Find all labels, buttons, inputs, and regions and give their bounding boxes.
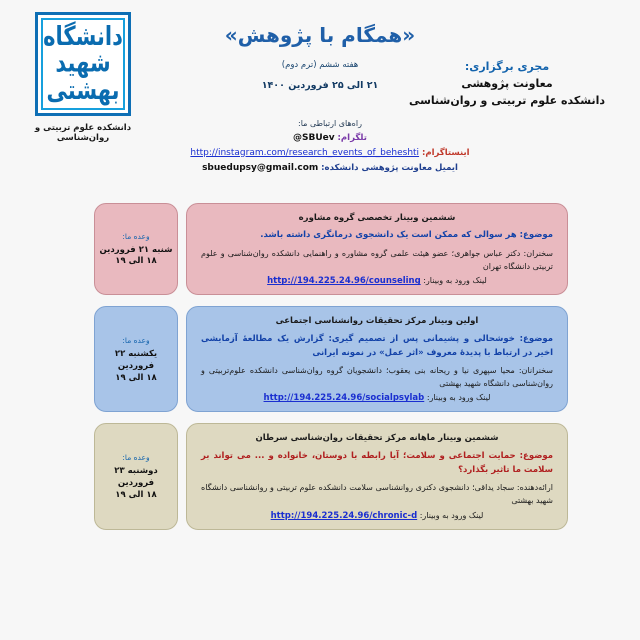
card-3-date-heading: وعده ما: <box>122 453 149 462</box>
card-1-speaker: سخنران: دکتر عباس جواهری؛ عضو هیئت علمی … <box>201 247 553 273</box>
card-2-webinar-link[interactable]: http://194.225.24.96/socialpsylab <box>264 393 425 403</box>
telegram-label: تلگرام: <box>338 133 367 143</box>
card-2-title: اولین وبینار مرکز تحقیقات روانشناسی اجتم… <box>201 316 553 327</box>
card-2-link-row: لینک ورود به وبینار: http://194.225.24.9… <box>201 393 553 403</box>
card-3-webinar-link[interactable]: http://194.225.24.96/chronic-d <box>271 511 418 521</box>
organizer-line-2: دانشکده علوم تربیتی و روان‌شناسی <box>382 92 632 109</box>
logo-calligraphy-text: دانشگاهشهیدبهشتی <box>43 24 123 104</box>
card-3-link-label: لینک ورود به وبینار: <box>420 511 484 520</box>
webinar-card-list: ششمین وبینار تخصصی گروه مشاوره موضوع: هر… <box>0 203 640 541</box>
poster-header: دانشگاهشهیدبهشتی دانشکده علوم تربیتی و ر… <box>0 0 640 195</box>
faculty-caption: دانشکده علوم تربیتی و روان‌شناسی <box>8 123 158 143</box>
card-3-date-value: دوشنبه ۲۳ فروردین <box>99 465 173 490</box>
card-1-date-value: شنبه ۲۱ فروردین <box>100 244 173 256</box>
telegram-handle: @SBUev <box>293 132 335 145</box>
card-3-body: ششمین وبینار ماهانه مرکز تحقیقات روان‌شن… <box>186 423 568 529</box>
card-2-speaker: سخنرانان: محیا سپهری نیا و ریحانه بنی یع… <box>201 364 553 390</box>
card-2-subject: موضوع: خوشحالی و پشیمانی پس از تصمیم گیر… <box>201 333 553 360</box>
organizer-heading: مجری برگزاری: <box>382 58 632 75</box>
card-1-body: ششمین وبینار تخصصی گروه مشاوره موضوع: هر… <box>186 203 568 295</box>
instagram-label: اینستاگرام: <box>422 148 470 158</box>
card-2-link-label: لینک ورود به وبینار: <box>427 393 491 402</box>
instagram-link[interactable]: http://instagram.com/research_events_of_… <box>190 147 419 160</box>
card-3-speaker: ارائه‌دهنده: سجاد یداقی؛ دانشجوی دکتری ر… <box>201 481 553 507</box>
poster: دانشگاهشهیدبهشتی دانشکده علوم تربیتی و ر… <box>0 0 640 640</box>
card-3-subject: موضوع: حمایت اجتماعی و سلامت؛ آیا رابطه … <box>201 450 553 477</box>
contact-block: راه‌های ارتباطی ما: تلگرام: @SBUev اینست… <box>150 118 510 175</box>
contact-row-instagram: اینستاگرام: http://instagram.com/researc… <box>150 147 510 160</box>
webinar-card-1: ششمین وبینار تخصصی گروه مشاوره موضوع: هر… <box>0 203 640 295</box>
contact-row-email: ایمیل معاونت پژوهشی دانشکده: sbuedupsy@g… <box>150 162 510 175</box>
card-3-title: ششمین وبینار ماهانه مرکز تحقیقات روان‌شن… <box>201 433 553 444</box>
card-2-date-heading: وعده ما: <box>122 336 149 345</box>
card-1-time-value: ۱۸ الی ۱۹ <box>115 256 156 266</box>
organizer-block: مجری برگزاری: معاونت پژوهشی دانشکده علوم… <box>382 58 632 109</box>
organizer-line-1: معاونت پژوهشی <box>382 75 632 92</box>
webinar-card-3: ششمین وبینار ماهانه مرکز تحقیقات روان‌شن… <box>0 423 640 529</box>
card-2-body: اولین وبینار مرکز تحقیقات روانشناسی اجتم… <box>186 306 568 412</box>
card-1-date-heading: وعده ما: <box>122 232 149 241</box>
card-1-link-row: لینک ورود به وبینار: http://194.225.24.9… <box>201 276 553 286</box>
logo-inner-frame: دانشگاهشهیدبهشتی <box>41 18 125 110</box>
card-1-subject: موضوع: هر سوالی که ممکن است یک دانشجوی د… <box>201 229 553 243</box>
card-3-time-value: ۱۸ الی ۱۹ <box>115 490 156 500</box>
contact-heading: راه‌های ارتباطی ما: <box>150 118 510 130</box>
university-logo-icon: دانشگاهشهیدبهشتی <box>35 12 131 116</box>
card-3-date-badge: وعده ما: دوشنبه ۲۳ فروردین ۱۸ الی ۱۹ <box>94 423 178 529</box>
card-1-link-label: لینک ورود به وبینار: <box>423 276 487 285</box>
email-label: ایمیل معاونت پژوهشی دانشکده: <box>321 163 458 173</box>
card-1-title: ششمین وبینار تخصصی گروه مشاوره <box>201 213 553 224</box>
card-1-date-badge: وعده ما: شنبه ۲۱ فروردین ۱۸ الی ۱۹ <box>94 203 178 295</box>
card-2-date-value: یکشنبه ۲۲ فروردین <box>99 348 173 373</box>
card-3-link-row: لینک ورود به وبینار: http://194.225.24.9… <box>201 511 553 521</box>
contact-row-telegram: تلگرام: @SBUev <box>150 132 510 145</box>
card-1-webinar-link[interactable]: http://194.225.24.96/counseling <box>267 276 421 286</box>
email-value: sbuedupsy@gmail.com <box>202 162 318 175</box>
card-2-time-value: ۱۸ الی ۱۹ <box>115 373 156 383</box>
webinar-card-2: اولین وبینار مرکز تحقیقات روانشناسی اجتم… <box>0 306 640 412</box>
page-title: «همگام با پژوهش» <box>160 22 480 48</box>
university-logo-block: دانشگاهشهیدبهشتی دانشکده علوم تربیتی و ر… <box>8 12 158 143</box>
card-2-date-badge: وعده ما: یکشنبه ۲۲ فروردین ۱۸ الی ۱۹ <box>94 306 178 412</box>
